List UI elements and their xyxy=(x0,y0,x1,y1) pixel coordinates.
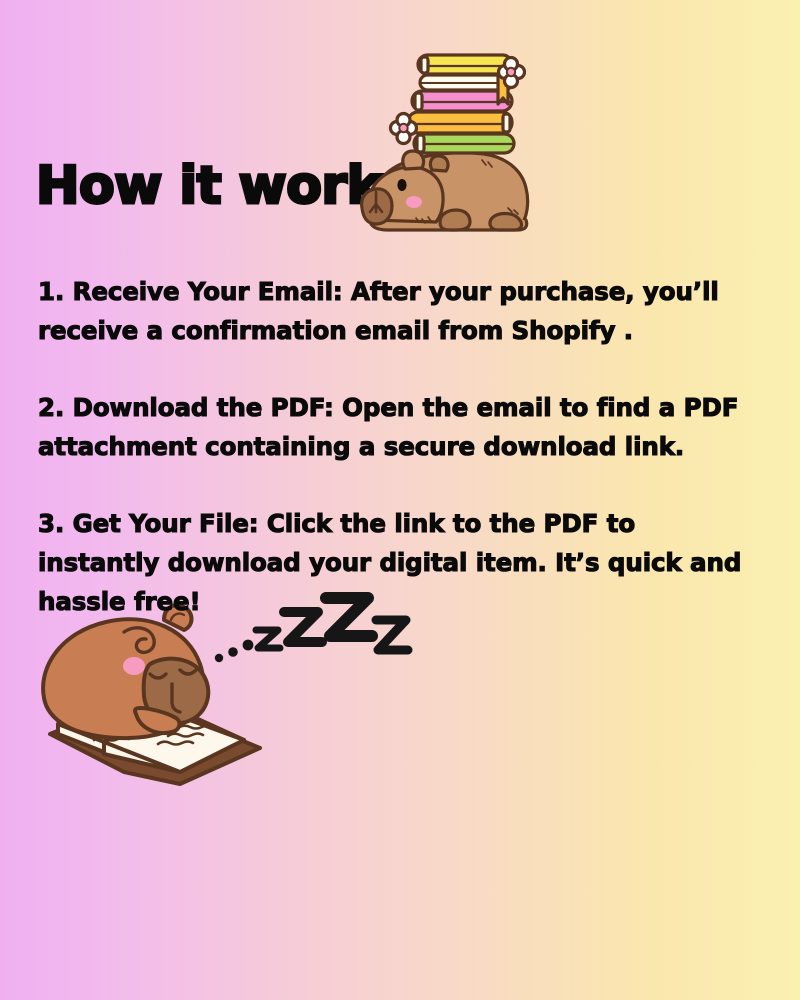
poster-canvas: How it works xyxy=(0,0,800,1000)
zzz-glyph-small-z xyxy=(256,630,280,648)
orange-book xyxy=(408,112,512,133)
zzz-dot xyxy=(228,647,238,657)
zzz-glyph-trailing-z xyxy=(376,620,408,650)
capybara-hind-paw xyxy=(490,214,521,231)
step-3: 3. Get Your File: Click the link to the … xyxy=(38,504,760,621)
sleeping-capybara-blush xyxy=(123,657,145,675)
step-2: 2. Download the PDF: Open the email to f… xyxy=(38,388,760,466)
capybara-ear-2 xyxy=(430,156,448,171)
steps-list: 1. Receive Your Email: After your purcha… xyxy=(38,272,760,621)
capybara-with-book-stack-illustration xyxy=(356,52,556,242)
capybara-blush xyxy=(406,196,422,208)
capybara-eye xyxy=(397,179,406,191)
daisy-center xyxy=(507,68,515,76)
daisy-center xyxy=(399,124,407,132)
capybara-front-paw xyxy=(440,210,470,230)
green-book xyxy=(414,134,514,153)
zzz-dot xyxy=(215,654,223,662)
zzz-dot xyxy=(243,640,254,651)
step-1: 1. Receive Your Email: After your purcha… xyxy=(38,272,760,350)
page-title: How it works xyxy=(36,160,411,212)
